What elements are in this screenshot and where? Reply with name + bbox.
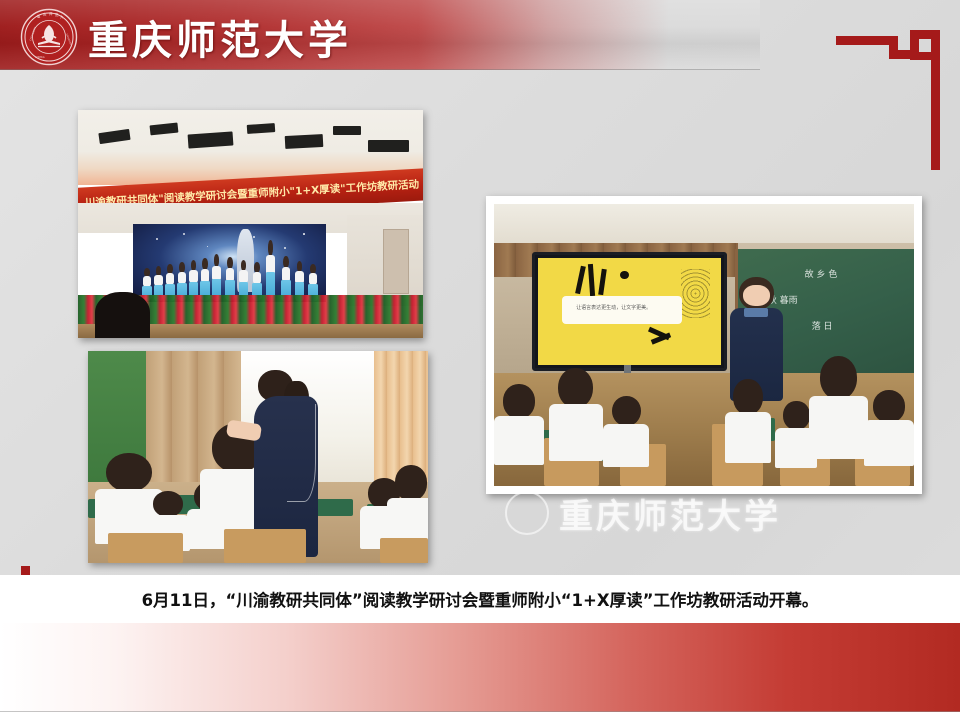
student-figure — [494, 384, 544, 486]
university-watermark: 重庆师范大学 — [505, 487, 795, 539]
student-figure — [725, 379, 771, 486]
slide-text: 让语言表达更生动，让文字更美。 — [576, 304, 651, 311]
classroom-display-screen: 让语言表达更生动，让文字更美。 — [532, 252, 727, 371]
slide-caption: 6月11日，“川渝教研共同体”阅读教学研讨会暨重师附小“1+X厚读”工作坊教研活… — [142, 587, 819, 611]
presentation-slide: 重庆 师范大 CHONGQING UNIVERSITY NORMAL 重庆师范大… — [0, 0, 960, 720]
page-title: 重庆师范大学 — [88, 8, 352, 66]
header-divider — [0, 69, 760, 70]
bottom-white-strip — [0, 712, 960, 720]
audience-head-silhouette — [95, 292, 150, 338]
lesson-slide: 让语言表达更生动，让文字更美。 — [538, 258, 721, 365]
svg-text:NORMAL: NORMAL — [35, 56, 46, 59]
corner-ornament-top-right-icon — [836, 10, 946, 170]
watermark-text: 重庆师范大学 — [559, 489, 781, 538]
student-figure — [864, 390, 914, 486]
auditorium-door — [383, 229, 409, 295]
chalkboard-line-3: 落 日 — [812, 319, 833, 332]
university-logo: 重庆 师范大 CHONGQING UNIVERSITY NORMAL — [20, 8, 78, 66]
classroom-ceiling — [494, 204, 914, 243]
student-figure — [809, 356, 868, 486]
photo-classroom-lesson[interactable]: 故 乡 色 晚秋 暮雨 落 日 让语言表达更生动，让文字更美。 — [486, 196, 922, 494]
caption-band: 6月11日，“川渝教研共同体”阅读教学研讨会暨重师附小“1+X厚读”工作坊教研活… — [0, 575, 960, 623]
university-seal-watermark-icon — [505, 491, 549, 535]
bottom-gradient-bar — [0, 623, 960, 712]
student-figure — [603, 396, 649, 486]
photo-teacher-guiding-student[interactable] — [88, 351, 428, 563]
photo-opening-ceremony-stage[interactable]: 川渝教研共同体"阅读教学研讨会暨重师附小"1+X厚读"工作坊教研活动 — [78, 110, 423, 338]
chalkboard-line-1: 故 乡 色 — [805, 267, 838, 280]
student-figure — [549, 368, 604, 486]
slide-text-bubble: 让语言表达更生动，让文字更美。 — [562, 296, 683, 324]
